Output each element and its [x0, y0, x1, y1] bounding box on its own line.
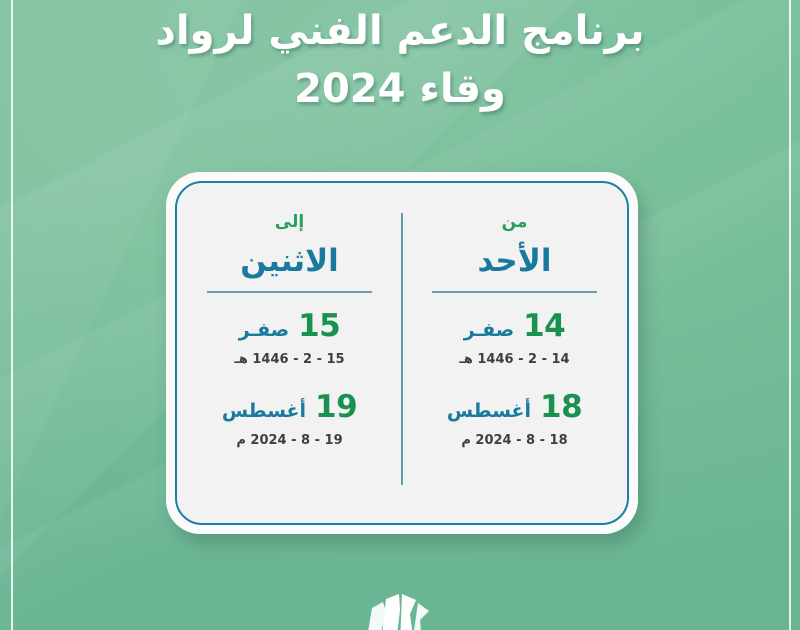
to-gregorian-full-date: 19 - 8 - 2024 م: [193, 432, 386, 450]
page-title: برنامج الدعم الفني لرواد وقاء 2024: [0, 2, 800, 118]
title-line-2: وقاء 2024: [0, 60, 800, 118]
from-hijri-month: صفـر: [464, 317, 514, 343]
column-to-gregorian: 19 أغسطس 19 - 8 - 2024 م: [193, 390, 386, 450]
column-to-day: الاثنين: [240, 239, 339, 283]
column-to-label: إلى: [275, 211, 304, 233]
waqa-fan-logo-icon: [352, 586, 448, 630]
to-gregorian-day-number: 19: [315, 390, 357, 424]
title-line-1: برنامج الدعم الفني لرواد: [0, 2, 800, 60]
column-from-label: من: [502, 211, 528, 233]
from-hijri-full-date: 14 - 2 - 1446 هـ: [418, 351, 611, 369]
from-gregorian-month: أغسطس: [447, 398, 531, 424]
to-hijri-month: صفـر: [239, 317, 289, 343]
column-to-hijri: 15 صفـر 15 - 2 - 1446 هـ: [193, 309, 386, 369]
column-from-hijri: 14 صفـر 14 - 2 - 1446 هـ: [418, 309, 611, 369]
column-from-gregorian: 18 أغسطس 18 - 8 - 2024 م: [418, 390, 611, 450]
column-to-rule: [207, 291, 373, 293]
from-gregorian-day-number: 18: [540, 390, 582, 424]
to-hijri-full-date: 15 - 2 - 1446 هـ: [193, 351, 386, 369]
date-range-card: من الأحد 14 صفـر 14 - 2 - 1446 هـ 18 أغس…: [166, 172, 638, 534]
column-from: من الأحد 14 صفـر 14 - 2 - 1446 هـ 18 أغس…: [402, 183, 627, 523]
to-gregorian-month: أغسطس: [222, 398, 306, 424]
from-gregorian-full-date: 18 - 8 - 2024 م: [418, 432, 611, 450]
date-columns: من الأحد 14 صفـر 14 - 2 - 1446 هـ 18 أغس…: [177, 183, 627, 523]
to-hijri-day-number: 15: [298, 309, 340, 343]
column-from-rule: [432, 291, 598, 293]
column-from-day: الأحد: [478, 239, 552, 283]
from-hijri-day-number: 14: [523, 309, 565, 343]
date-range-card-inner: من الأحد 14 صفـر 14 - 2 - 1446 هـ 18 أغس…: [175, 181, 629, 525]
column-to: إلى الاثنين 15 صفـر 15 - 2 - 1446 هـ 19 …: [177, 183, 402, 523]
